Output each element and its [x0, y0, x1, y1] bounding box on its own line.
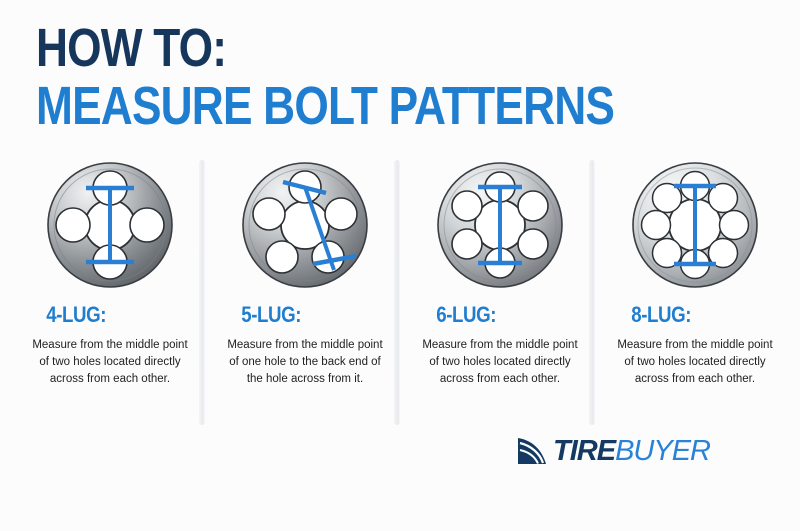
lug-label-5: 5-LUG:: [233, 302, 378, 328]
wheel-svg-4-lug: [30, 160, 190, 290]
logo-text: TIREBUYER: [553, 437, 710, 466]
page-title-line2: MEASURE BOLT PATTERNS: [36, 78, 614, 134]
lug-label-4: 4-LUG:: [38, 302, 183, 328]
wheel-diagram-6-lug: [415, 160, 585, 290]
column-4-lug: 4-LUG: Measure from the middle point of …: [25, 160, 195, 388]
column-divider-1: [199, 160, 205, 425]
logo-text-buyer: BUYER: [615, 435, 710, 467]
wheel-svg-8-lug: [615, 160, 775, 290]
infographic-page: HOW TO: MEASURE BOLT PATTERNS: [0, 0, 800, 531]
tirebuyer-logo: TIREBUYER: [516, 436, 710, 466]
wheel-diagram-8-lug: [610, 160, 780, 290]
wheel-svg-5-lug: [225, 160, 385, 290]
page-title-line1: HOW TO:: [36, 22, 614, 74]
tirebuyer-logo-mark-icon: [516, 436, 550, 466]
lug-label-6: 6-LUG:: [428, 302, 573, 328]
lug-label-8: 8-LUG:: [623, 302, 768, 328]
column-8-lug: 8-LUG: Measure from the middle point of …: [610, 160, 780, 388]
column-divider-2: [394, 160, 400, 425]
wheel-diagram-4-lug: [25, 160, 195, 290]
wheel-svg-6-lug: [420, 160, 580, 290]
lug-description-6: Measure from the middle point of two hol…: [415, 337, 585, 388]
header: HOW TO: MEASURE BOLT PATTERNS: [36, 22, 741, 134]
wheel-diagram-5-lug: [220, 160, 390, 290]
logo-text-tire: TIRE: [553, 435, 615, 467]
lug-description-4: Measure from the middle point of two hol…: [25, 337, 195, 388]
lug-description-8: Measure from the middle point of two hol…: [610, 337, 780, 388]
column-6-lug: 6-LUG: Measure from the middle point of …: [415, 160, 585, 388]
lug-description-5: Measure from the middle point of one hol…: [220, 337, 390, 388]
column-5-lug: 5-LUG: Measure from the middle point of …: [220, 160, 390, 388]
column-divider-3: [589, 160, 595, 425]
